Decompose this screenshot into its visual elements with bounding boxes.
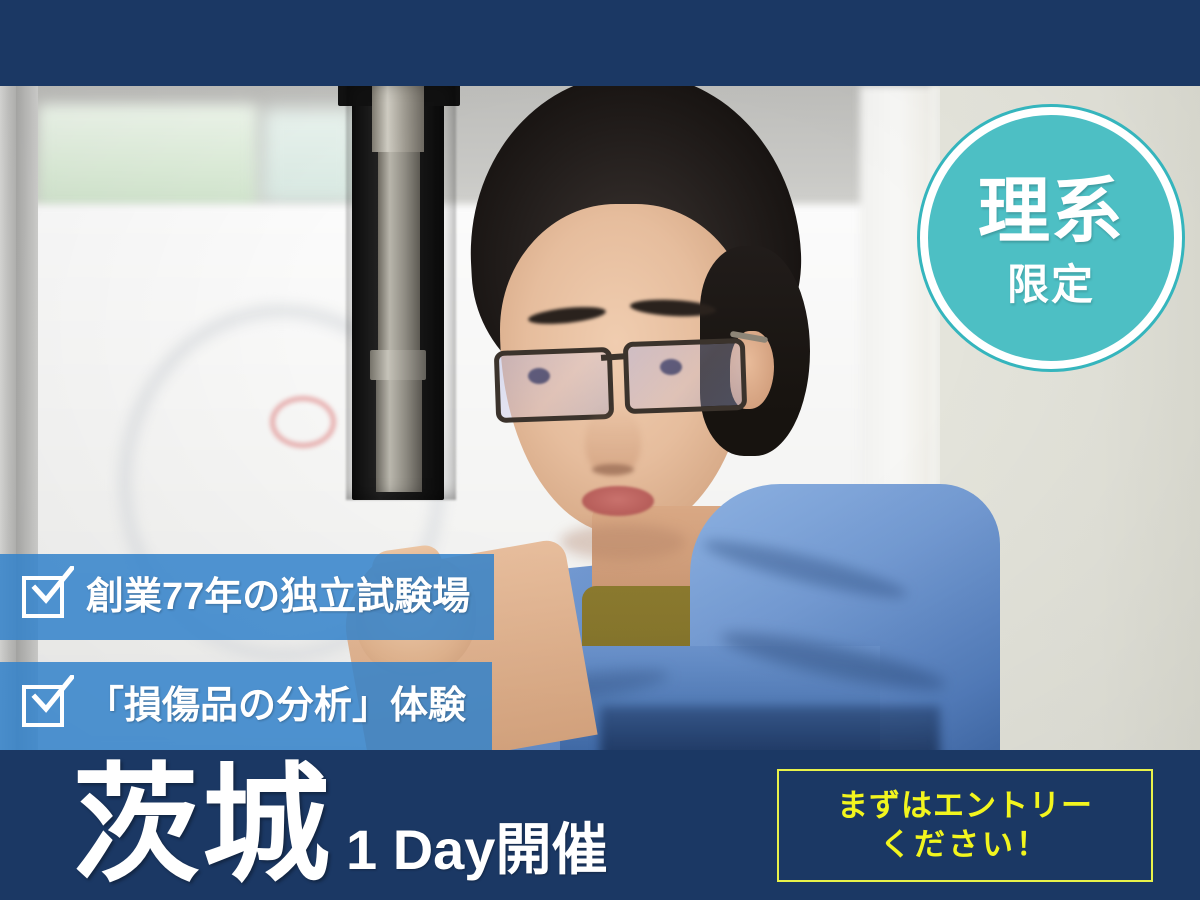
jacket-shadow [600,706,940,750]
checkbox-checked-icon [22,574,68,620]
eyeglasses-lens-right [623,338,747,414]
headline-banner [0,0,1200,86]
machine-frame-left [0,86,16,750]
lab-green-panel [38,104,258,212]
event-location: 茨城 [72,762,332,890]
lab-green-panel-secondary [262,108,358,204]
feature-label: 創業77年の独立試験場 [86,578,470,616]
science-major-badge: 理系 限定 [917,104,1185,372]
feature-bar: 「損傷品の分析」体験 [0,662,492,750]
subject-mouth [582,486,654,516]
cta-line-1: まずはエントリー [837,787,1093,826]
checkbox-checked-icon [22,683,68,729]
subject-nostril [592,464,634,475]
cta-line-2: ください！ [880,826,1050,865]
feature-label: 「損傷品の分析」体験 [86,687,466,725]
badge-main-label: 理系 [978,176,1124,248]
entry-cta-box[interactable]: まずはエントリー ください！ [777,769,1153,882]
fixture-shadow [346,86,456,500]
feature-bar: 創業77年の独立試験場 [0,554,494,640]
machine-frame-left-inner [16,86,38,750]
event-format: 1 Day開催 [346,822,607,878]
event-location-group: 茨城 1 Day開催 [72,762,607,890]
recruiting-poster: “実験・実習”が好きな方必見！！ 理系 限定 創業77年の独立試験場 「損傷品の… [0,0,1200,900]
badge-sub-label: 限定 [1007,264,1095,306]
subject-chin-shadow [560,524,686,560]
badge-inner-circle: 理系 限定 [920,107,1182,369]
warning-sticker [270,396,336,448]
